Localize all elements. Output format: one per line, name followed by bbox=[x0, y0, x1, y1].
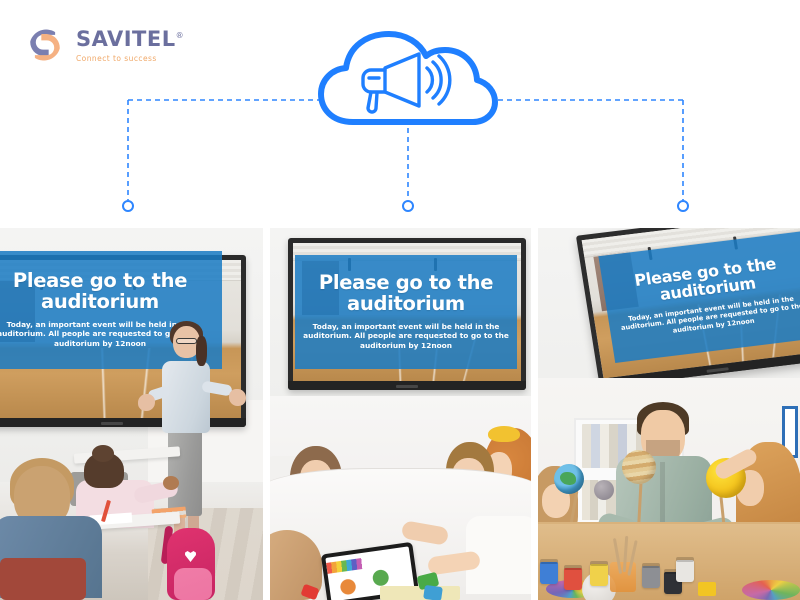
student-hair-bun bbox=[92, 445, 114, 462]
earth-model-icon bbox=[554, 464, 584, 494]
brand-name-label: SAVITEL bbox=[76, 27, 176, 51]
jupiter-model-icon bbox=[622, 450, 656, 484]
paint-pot-lid bbox=[540, 559, 558, 564]
savitel-logo[interactable]: SAVITEL® Connect to success bbox=[22, 22, 184, 68]
announcement-title-line-1: Please go to the bbox=[319, 273, 493, 294]
scene-panels: Please go to the auditorium Today, an im… bbox=[0, 228, 800, 600]
teacher-skirt bbox=[168, 424, 202, 516]
paint-pot-lid bbox=[642, 563, 660, 568]
announcement-overlay-2: Please go to the auditorium Today, an im… bbox=[295, 255, 517, 369]
paint-pot-lid bbox=[590, 561, 608, 566]
panel-science-craft[interactable]: Please go to the auditorium Today, an im… bbox=[538, 228, 800, 600]
announcement-title-line-2: auditorium bbox=[319, 294, 493, 315]
announcement-title-1: Please go to the auditorium bbox=[13, 271, 187, 312]
toy-block bbox=[423, 585, 443, 600]
paint-pot bbox=[676, 560, 694, 582]
color-palette bbox=[742, 580, 800, 600]
hair-bow-icon bbox=[488, 426, 520, 442]
paint-pot-lid bbox=[676, 557, 694, 562]
interactive-display-3[interactable]: Please go to the auditorium Today, an im… bbox=[576, 228, 800, 388]
connection-node-circle-icon bbox=[678, 201, 688, 211]
brand-tagline: Connect to success bbox=[76, 54, 184, 63]
teacher-hair-side bbox=[196, 336, 207, 366]
student-chair bbox=[0, 558, 86, 600]
display-brand-logo bbox=[706, 367, 728, 373]
panel-children-tablet[interactable]: Please go to the auditorium Today, an im… bbox=[270, 228, 531, 600]
connection-node-circle-icon bbox=[403, 201, 413, 211]
teacher-blouse bbox=[162, 361, 210, 433]
teacher-hand bbox=[138, 394, 155, 411]
display-brand-logo bbox=[101, 422, 123, 425]
connection-node-circle-icon bbox=[123, 201, 133, 211]
student-hand bbox=[163, 476, 179, 490]
paint-pot bbox=[564, 568, 582, 590]
paint-pot bbox=[540, 562, 558, 584]
display-screen-3: Please go to the auditorium Today, an im… bbox=[582, 228, 800, 379]
panel-classroom-teacher[interactable]: Please go to the auditorium Today, an im… bbox=[0, 228, 263, 600]
paint-pot bbox=[642, 566, 660, 588]
savitel-logo-text: SAVITEL® Connect to success bbox=[76, 27, 184, 63]
announcement-body-2: Today, an important event will be held i… bbox=[301, 322, 511, 351]
savitel-s-logo-icon bbox=[22, 22, 68, 68]
brand-name: SAVITEL® bbox=[76, 29, 184, 50]
announcement-title-line-1: Please go to the bbox=[13, 271, 187, 292]
teacher-glasses-icon bbox=[176, 338, 197, 344]
panel-divider bbox=[263, 228, 270, 600]
paint-pot-lid bbox=[564, 565, 582, 570]
planet-model-icon bbox=[594, 480, 614, 500]
panel-divider bbox=[531, 228, 538, 600]
craft-table bbox=[538, 522, 800, 600]
cloud-megaphone-broadcast-icon bbox=[313, 30, 501, 130]
registered-trademark-icon: ® bbox=[176, 31, 185, 40]
announcement-title-line-2: auditorium bbox=[13, 292, 187, 313]
announcement-infographic-page: SAVITEL® Connect to success bbox=[0, 0, 800, 600]
paint-pot bbox=[590, 564, 608, 586]
announcement-title-2: Please go to the auditorium bbox=[319, 273, 493, 314]
backpack-pocket bbox=[174, 568, 212, 600]
display-brand-logo bbox=[396, 385, 418, 388]
craft-block bbox=[698, 582, 716, 596]
display-bezel-chin-2 bbox=[288, 381, 526, 390]
teacher-hand bbox=[229, 389, 246, 406]
